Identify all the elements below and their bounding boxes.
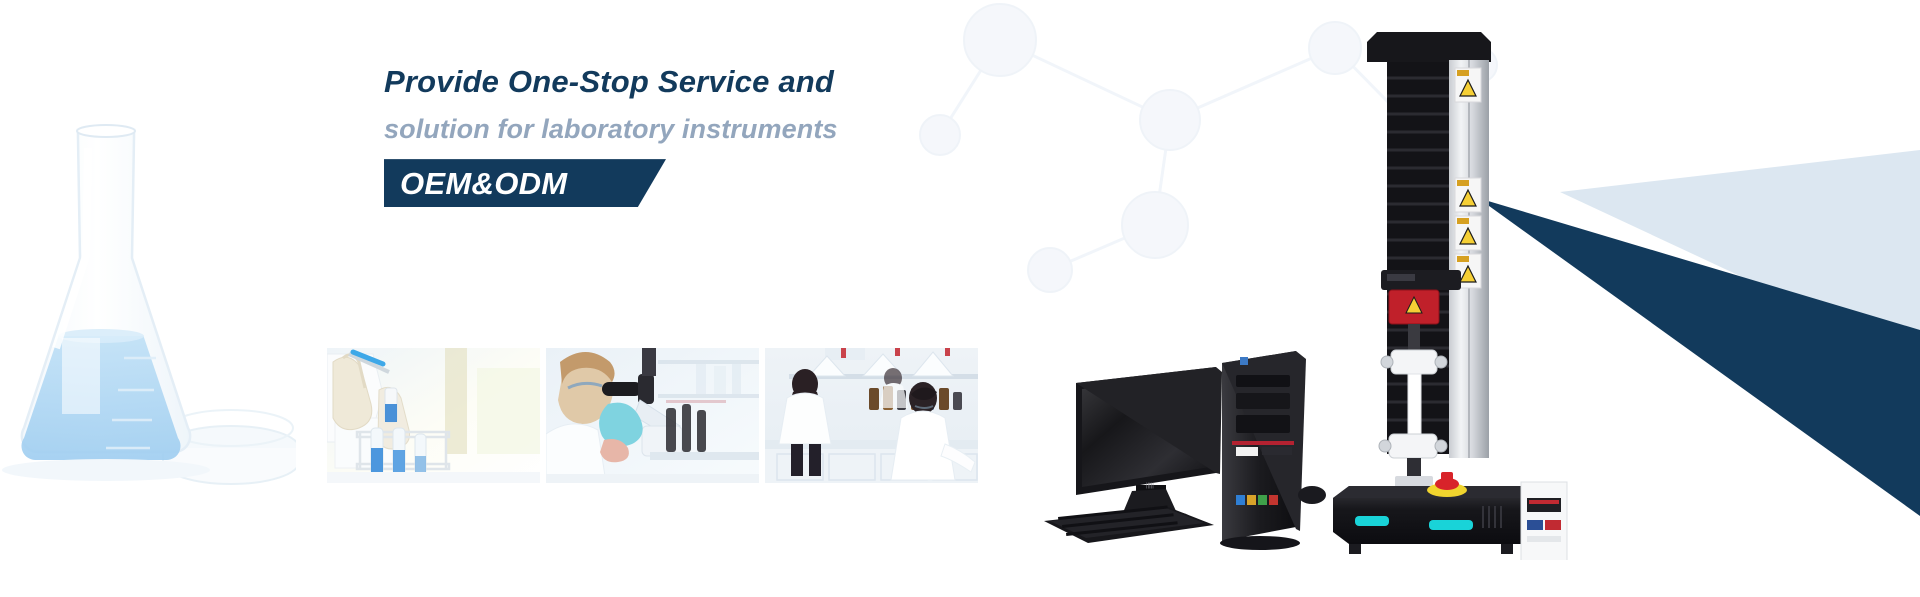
lcd-monitor: ||||| (1076, 367, 1222, 524)
svg-text:|||||: ||||| (1146, 483, 1154, 489)
petri-dish (163, 410, 296, 484)
control-cabinet (1521, 482, 1567, 560)
specimen (1408, 374, 1421, 436)
photo-pipetting (327, 348, 540, 483)
universal-testing-machine (1325, 20, 1585, 560)
photo-lab-bench (765, 348, 978, 483)
badge-label: OEM&ODM (400, 165, 567, 202)
photo-microscope (546, 348, 759, 483)
dark-triangle (1478, 198, 1920, 516)
load-cell (1389, 290, 1439, 324)
flask-illustration (0, 118, 296, 538)
decorative-triangles (1220, 0, 1920, 597)
light-triangle (1560, 150, 1920, 360)
hero-banner: Provide One-Stop Service and solution fo… (0, 0, 1920, 597)
crosshead (1381, 270, 1461, 290)
machine-base (1333, 486, 1547, 554)
led-accent-left (1355, 516, 1389, 526)
erlenmeyer-flask (21, 125, 190, 460)
oem-odm-badge: OEM&ODM (384, 159, 684, 211)
headline-line-1: Provide One-Stop Service and (384, 62, 1004, 101)
keyboard (1044, 506, 1214, 543)
mouse (1298, 486, 1326, 504)
led-accent-right (1429, 520, 1473, 530)
lower-grip (1389, 434, 1437, 458)
photo-strip (327, 348, 978, 483)
desktop-computer: ||||| (1040, 345, 1330, 560)
warning-labels (1455, 68, 1481, 288)
emergency-stop-button (1427, 472, 1467, 497)
headline-line-2: solution for laboratory instruments (384, 112, 1004, 147)
headline-block: Provide One-Stop Service and solution fo… (384, 62, 1004, 211)
upper-grip (1391, 350, 1437, 374)
pc-tower (1220, 351, 1306, 550)
